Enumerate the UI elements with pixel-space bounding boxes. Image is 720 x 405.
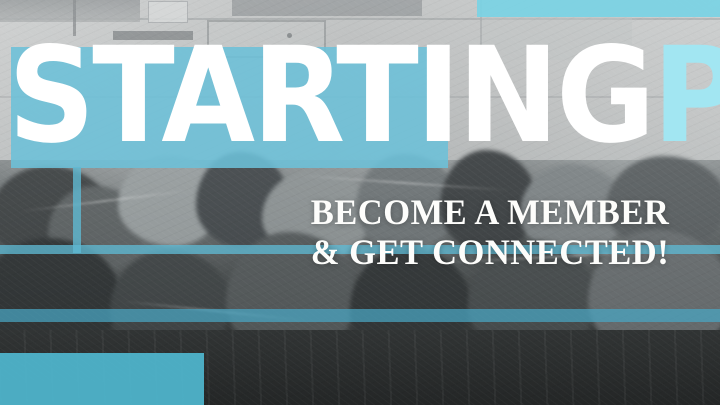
headline-word-primary: STARTING: [8, 19, 652, 173]
brand-block-bottom-left: [0, 353, 204, 405]
brand-band-lower: [0, 309, 720, 322]
wall-shadow-mid: [232, 0, 422, 16]
headline-word-secondary: POINT: [652, 19, 720, 173]
brand-rule-vertical: [73, 167, 81, 253]
page-title: STARTINGPOINT: [8, 30, 720, 162]
subtitle-line-1: BECOME A MEMBER: [288, 192, 691, 232]
brand-bar-top-right: [477, 0, 720, 17]
subtitle-line-2: & GET CONNECTED!: [288, 232, 691, 272]
subtitle: BECOME A MEMBER & GET CONNECTED!: [288, 192, 691, 272]
poster-canvas: STARTINGPOINT BECOME A MEMBER & GET CONN…: [0, 0, 720, 405]
